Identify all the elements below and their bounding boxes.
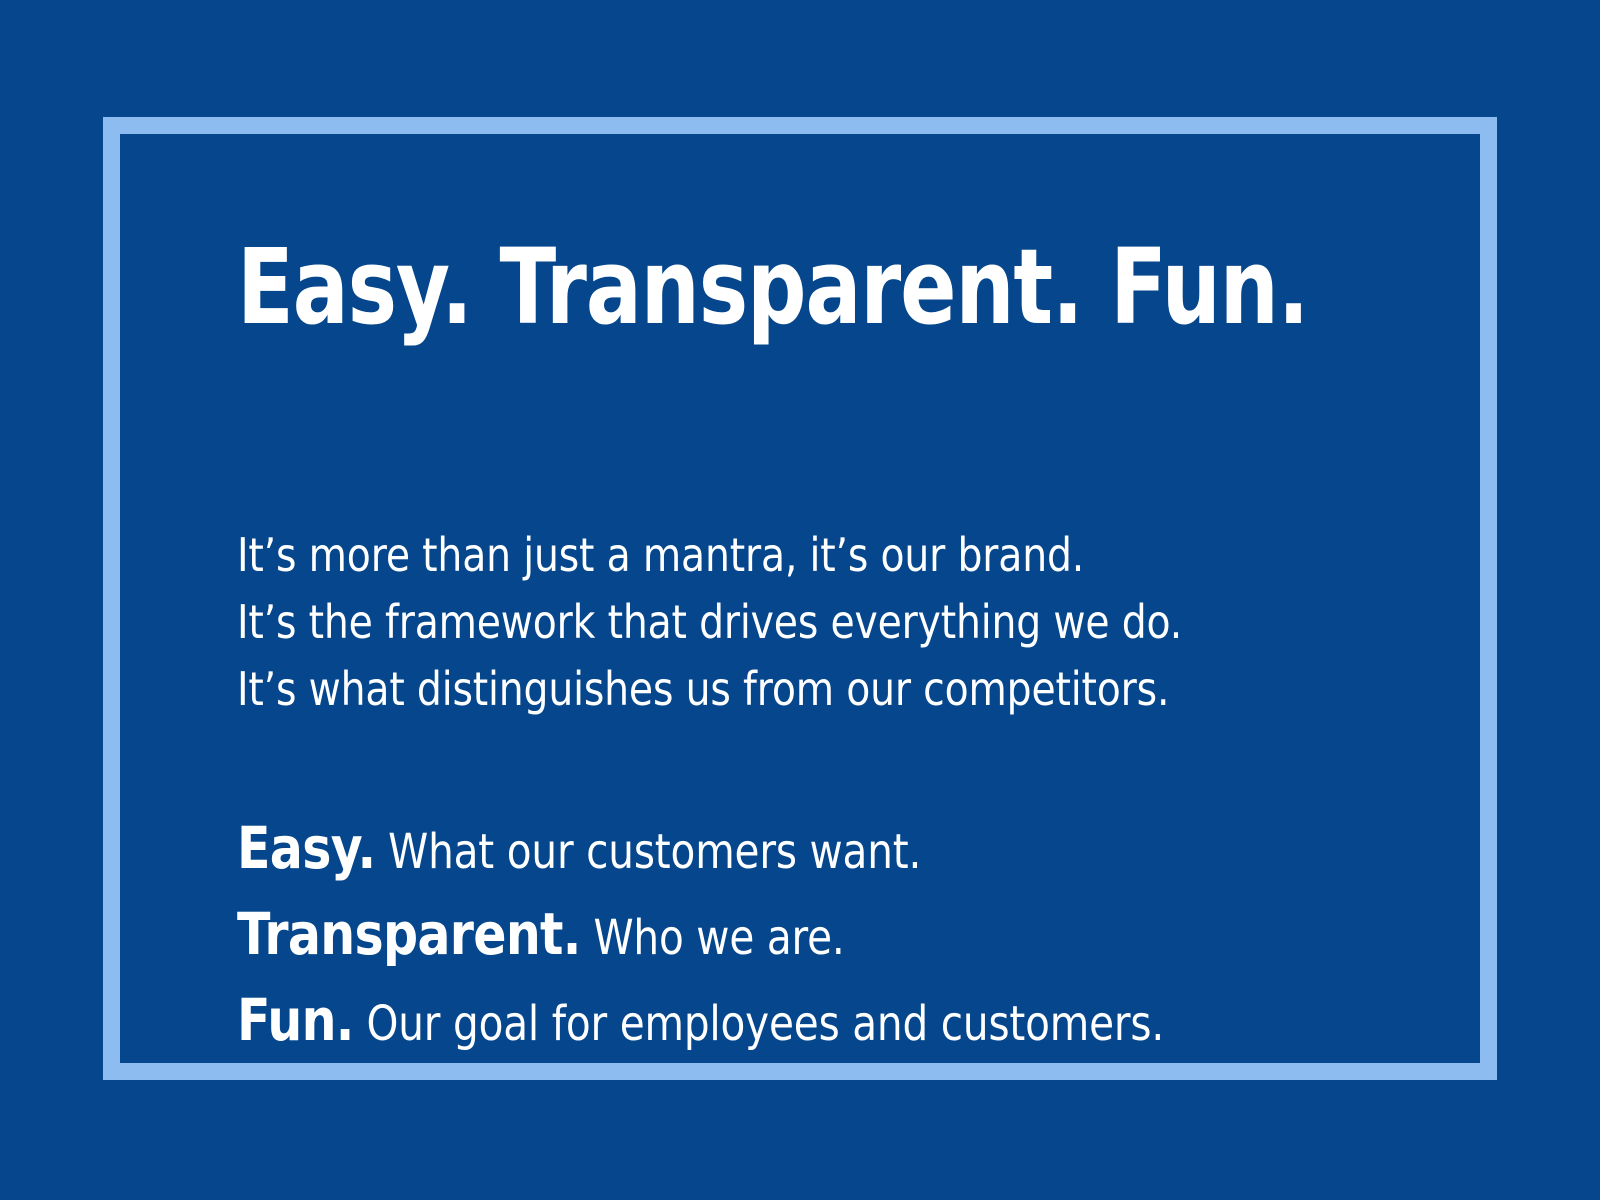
definition-item: Fun. Our goal for employees and customer… [237, 979, 1164, 1065]
definition-term: Transparent. [237, 900, 581, 968]
definition-gloss: Our goal for employees and customers. [354, 996, 1164, 1052]
definition-gloss: What our customers want. [375, 824, 921, 880]
definition-term: Fun. [237, 986, 354, 1054]
intro-line: It’s more than just a mantra, it’s our b… [237, 522, 1182, 589]
intro-paragraph: It’s more than just a mantra, it’s our b… [237, 522, 1182, 723]
definition-list: Easy. What our customers want. Transpare… [237, 807, 1164, 1065]
definition-term: Easy. [237, 814, 375, 882]
definition-item: Easy. What our customers want. [237, 807, 1164, 893]
definition-gloss: Who we are. [581, 910, 845, 966]
brand-mantra-slide: Easy. Transparent. Fun. It’s more than j… [0, 0, 1600, 1200]
definition-item: Transparent. Who we are. [237, 893, 1164, 979]
intro-line: It’s what distinguishes us from our comp… [237, 656, 1182, 723]
intro-line: It’s the framework that drives everythin… [237, 589, 1182, 656]
slide-content: Easy. Transparent. Fun. It’s more than j… [237, 117, 1417, 1080]
page-title: Easy. Transparent. Fun. [237, 235, 1308, 339]
